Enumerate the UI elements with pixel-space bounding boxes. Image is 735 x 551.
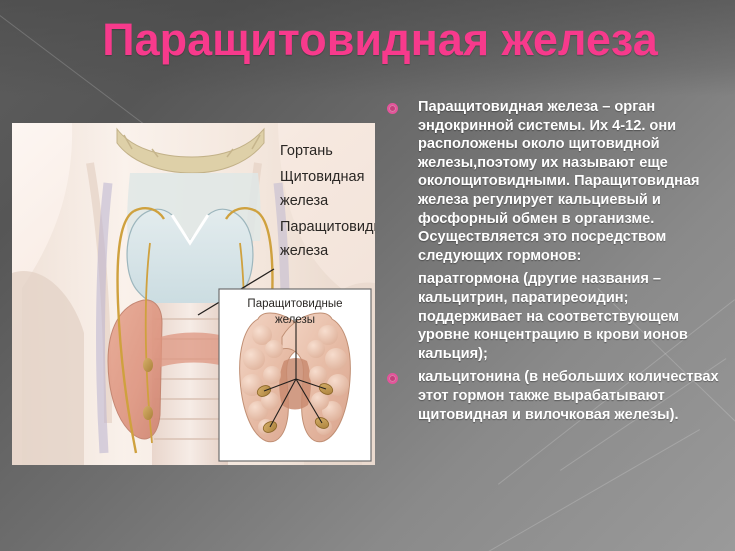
paragraph-3-text: кальцитонина (в небольших количествах эт… — [418, 369, 719, 422]
body-text-column: Паращитовидная железа – орган эндокринно… — [382, 98, 728, 429]
bullet-icon — [387, 373, 398, 384]
bullet-icon — [387, 103, 398, 114]
paragraph-3: кальцитонина (в небольших количествах эт… — [382, 368, 728, 424]
decorative-streak — [483, 429, 700, 551]
label-larynx: Гортань — [280, 143, 333, 159]
anatomy-svg: Гортань Щитовидная железа Паращитовидная… — [12, 123, 375, 465]
paragraph-1: Паращитовидная железа – орган эндокринно… — [382, 98, 728, 265]
label-thyroid-line2: железа — [280, 193, 329, 209]
inset-parathyroid-glands: Паращитовидные железы — [219, 289, 371, 461]
label-thyroid-line1: Щитовидная — [280, 169, 364, 185]
label-parathyroid-line1: Паращитовидная — [280, 219, 375, 235]
paragraph-2-text: паратгормона (другие названия – кальцитр… — [418, 271, 688, 361]
slide-title: Паращитовидная железа — [60, 16, 700, 63]
slide-canvas: Паращитовидная железа — [0, 0, 735, 551]
inset-caption-line2: железы — [275, 314, 315, 326]
label-parathyroid-line2: железа — [280, 243, 329, 259]
inset-caption-line1: Паращитовидные — [247, 298, 342, 310]
paragraph-1-text: Паращитовидная железа – орган эндокринно… — [418, 99, 700, 264]
paragraph-2: паратгормона (другие названия – кальцитр… — [382, 270, 728, 363]
anatomy-illustration: Гортань Щитовидная железа Паращитовидная… — [12, 123, 375, 465]
